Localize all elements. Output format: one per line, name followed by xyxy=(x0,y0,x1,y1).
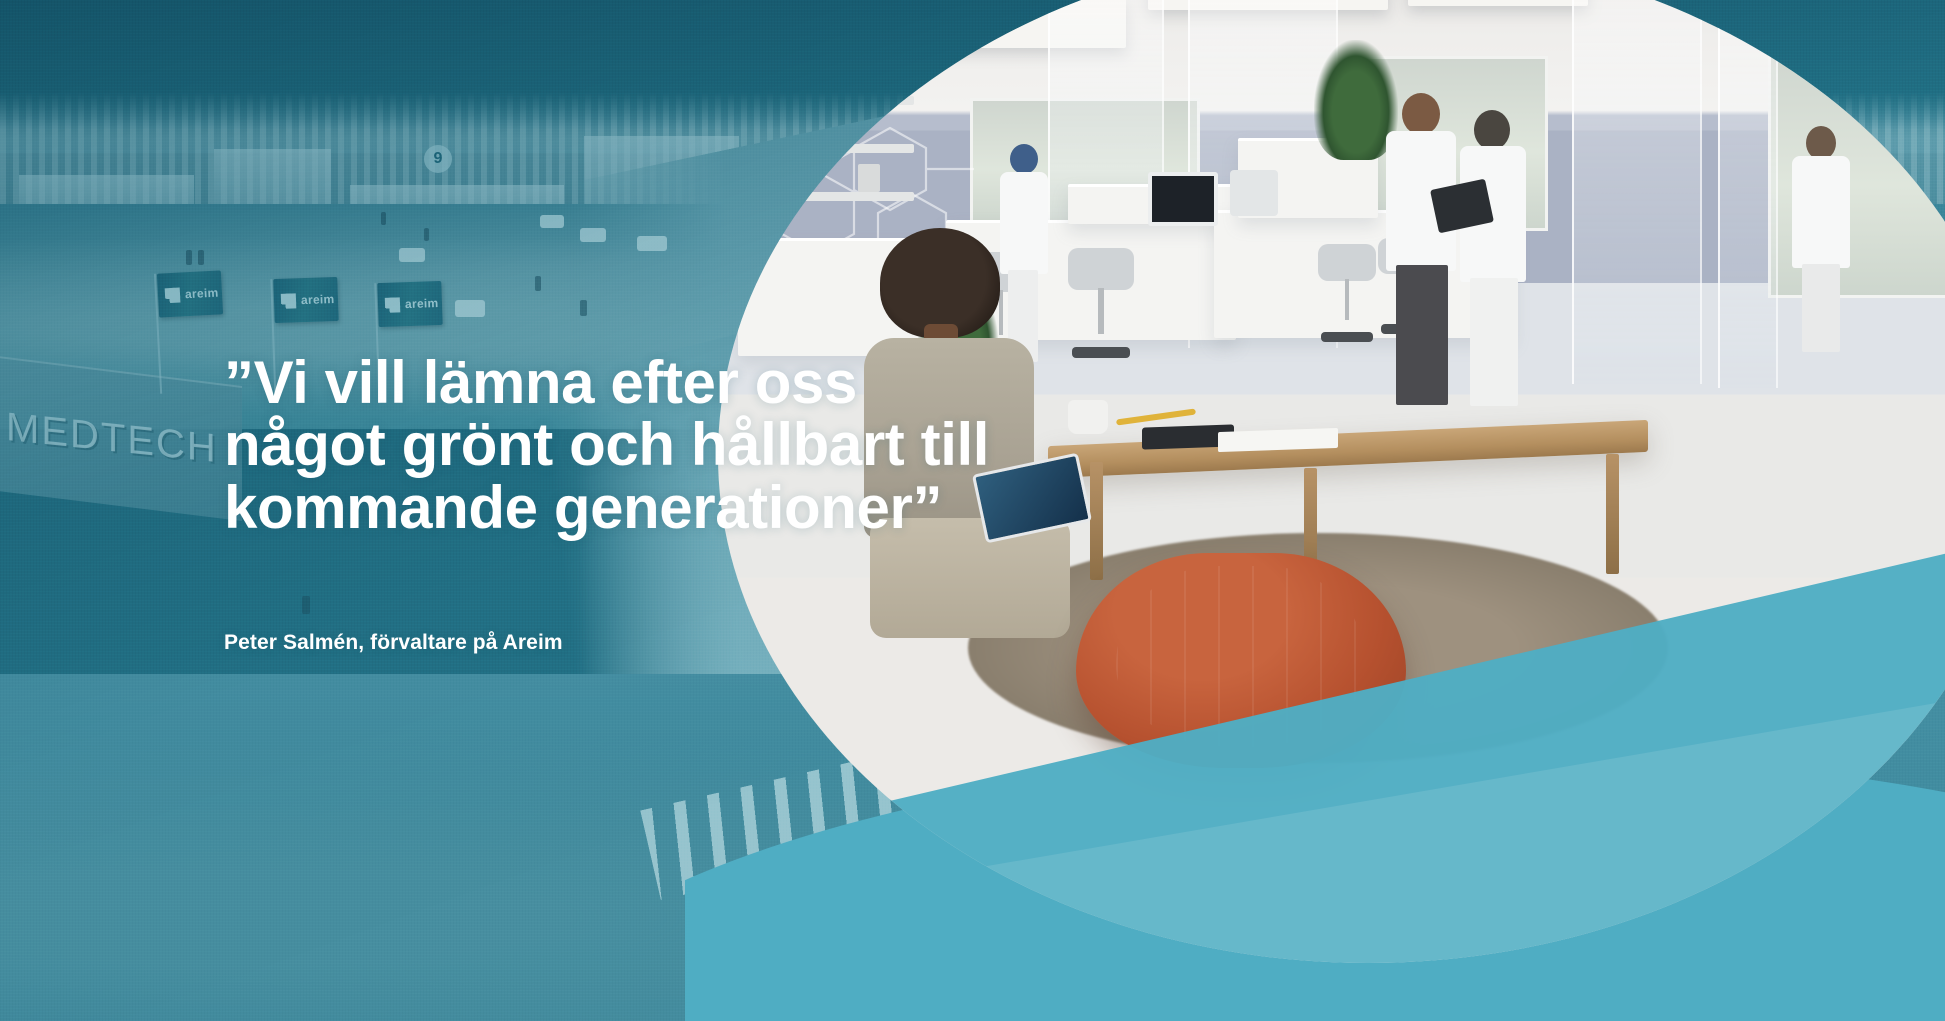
lab-shelf xyxy=(764,192,914,201)
lab-shelf xyxy=(764,96,914,105)
lab-researcher xyxy=(1788,126,1854,356)
glass-partition xyxy=(1572,0,1702,384)
person-legs xyxy=(1396,265,1448,405)
lab-researcher xyxy=(1378,93,1464,413)
lab-equipment xyxy=(1230,170,1278,216)
glass-partition xyxy=(1718,0,1778,388)
stool-post xyxy=(1098,288,1103,334)
headline-line-2: något grönt och hållbart till xyxy=(224,414,984,476)
headline-line-1: ”Vi vill lämna efter oss xyxy=(224,352,984,414)
paper-sheet xyxy=(1218,428,1338,452)
stool-post xyxy=(1345,279,1350,320)
person-hair xyxy=(880,228,1000,338)
quote-text-block: ”Vi vill lämna efter oss något grönt och… xyxy=(224,352,984,655)
person-head xyxy=(1402,93,1440,135)
person-head xyxy=(1806,126,1836,160)
headline-line-3: kommande generationer” xyxy=(224,477,984,539)
lab-shelf xyxy=(764,144,914,153)
desk-leg xyxy=(1606,454,1619,574)
lab-coat xyxy=(1792,156,1850,268)
person-head xyxy=(1010,144,1038,174)
wooden-desk xyxy=(1048,420,1648,478)
stool-base xyxy=(1321,332,1372,342)
quote-attribution: Peter Salmén, förvaltare på Areim xyxy=(224,631,984,655)
person-legs xyxy=(1470,278,1518,406)
desk-leg xyxy=(1090,462,1103,580)
computer-monitor xyxy=(1148,172,1218,226)
lab-researcher xyxy=(1454,110,1534,410)
ceiling-light-panel xyxy=(1408,0,1588,6)
lab-stool xyxy=(1318,244,1376,342)
glassware-rack xyxy=(818,120,840,144)
pencil xyxy=(1116,408,1196,425)
glassware-rack xyxy=(778,68,800,96)
glassware-rack xyxy=(858,164,880,192)
person-legs xyxy=(1802,264,1840,352)
stool-seat xyxy=(1318,244,1376,281)
person-head xyxy=(1474,110,1510,150)
hero-banner: MEDTECH 9 areim areim areim xyxy=(0,0,1945,1021)
headline: ”Vi vill lämna efter oss något grönt och… xyxy=(224,352,984,539)
